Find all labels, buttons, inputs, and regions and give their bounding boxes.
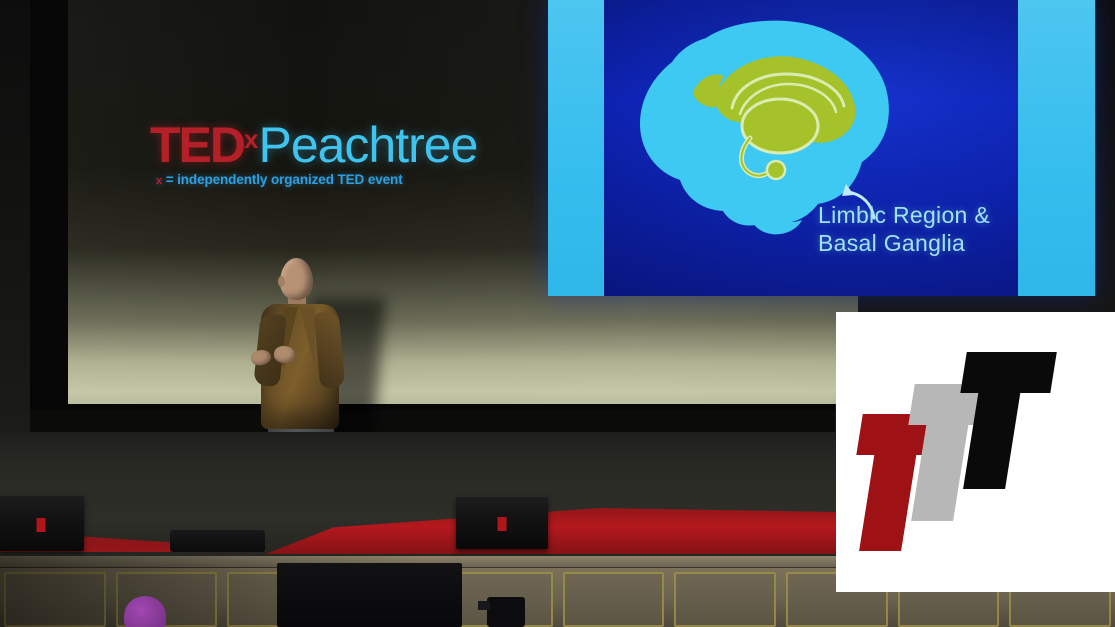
ttt-logo-icon: [836, 312, 1115, 592]
tedx-logo-city: Peachtree: [258, 117, 477, 173]
tedx-tagline-x: x: [156, 175, 162, 187]
stage-photo-frame: TEDxPeachtree x = independently organize…: [0, 0, 1115, 627]
tedx-tagline-text: = independently organized TED event: [166, 172, 403, 187]
slide-band-left: [548, 0, 604, 296]
speaker-ear: [278, 276, 285, 287]
speaker-brand-badge: [498, 517, 507, 531]
stage-monitor-center: [456, 496, 548, 549]
ttt-logo-card[interactable]: [836, 312, 1115, 592]
slide-caption-line-1: Limbic Region &: [818, 201, 1068, 229]
tedx-logo-wordmark: TEDxPeachtree: [150, 120, 500, 170]
stage-panel: [4, 572, 106, 627]
stage-panel: [563, 572, 665, 627]
speaker-lapel-right: [300, 307, 315, 369]
projection-screen-bottom-bar: [30, 410, 835, 434]
speaker-brand-badge: [37, 518, 46, 532]
slide-caption-line-2: Basal Ganglia: [818, 229, 1068, 257]
brain-slide: Limbic Region & Basal Ganglia: [548, 0, 1096, 296]
tedx-logo-tagline-row: x = independently organized TED event: [156, 172, 500, 187]
stage-monitor-left: [0, 495, 84, 551]
slide-caption: Limbic Region & Basal Ganglia: [818, 201, 1068, 257]
foreground-equipment-case: [277, 563, 462, 627]
foreground-camera: [487, 597, 525, 627]
tedx-logo-x: x: [244, 124, 258, 154]
tedx-peachtree-logo: TEDxPeachtree x = independently organize…: [150, 120, 500, 187]
stage-panel: [674, 572, 776, 627]
stage-riser-box: [170, 530, 265, 552]
speaker-head: [280, 258, 313, 300]
tedx-logo-ted: TED: [150, 117, 244, 173]
